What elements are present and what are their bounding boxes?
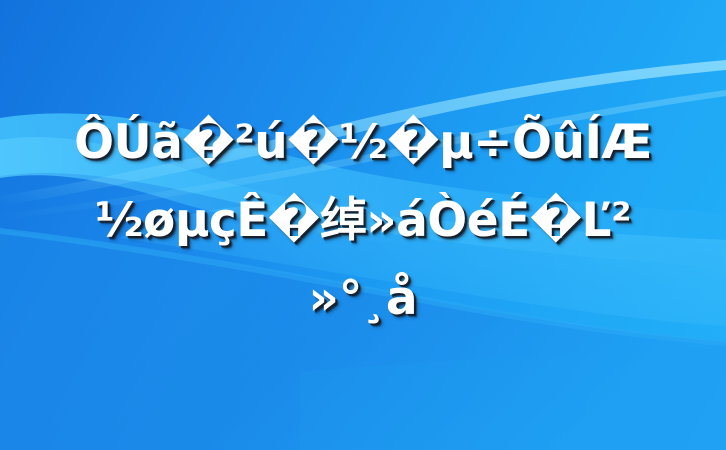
banner-canvas: ÔÚã�²ú�½�µ÷ÕûÍÆ ½øµçÊ�绰»áÒéÉ�Ľ² »°¸å: [0, 0, 726, 450]
headline-block: ÔÚã�²ú�½�µ÷ÕûÍÆ ½øµçÊ�绰»áÒéÉ�Ľ² »°¸å: [0, 104, 726, 338]
headline-line-1: ÔÚã�²ú�½�µ÷ÕûÍÆ: [14, 104, 712, 182]
headline-line-2: ½øµçÊ�绰»áÒéÉ�Ľ²: [14, 182, 712, 260]
headline-line-3: »°¸å: [14, 260, 712, 338]
